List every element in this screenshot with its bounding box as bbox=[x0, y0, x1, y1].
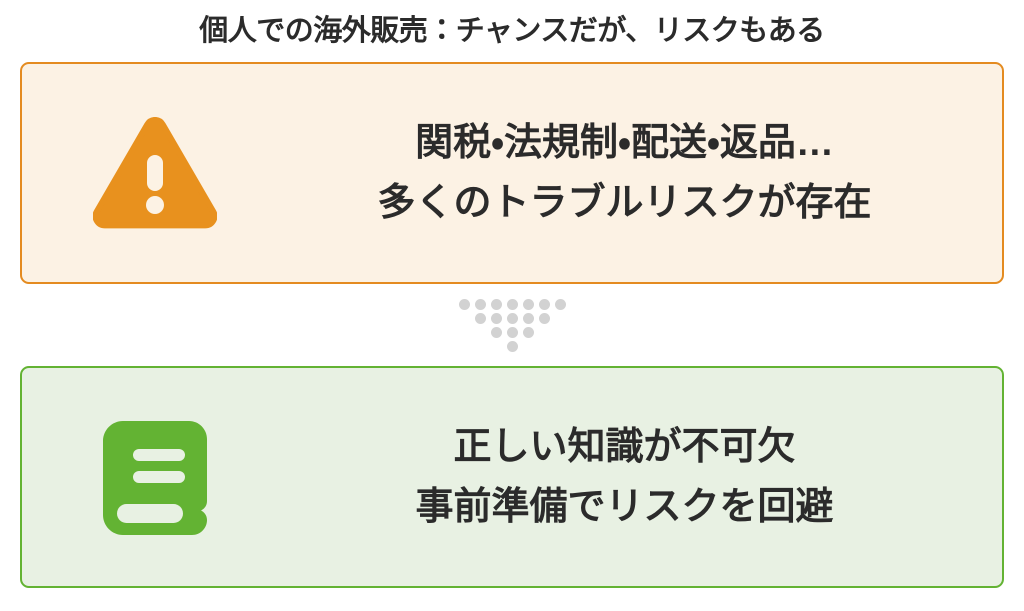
connector-dot bbox=[523, 299, 534, 310]
info-line-2: 事前準備でリスクを回避 bbox=[415, 477, 833, 537]
connector-dot bbox=[539, 313, 550, 324]
connector-dot bbox=[491, 299, 502, 310]
connector-dot bbox=[555, 299, 566, 310]
connector-dot bbox=[507, 313, 518, 324]
dot-row bbox=[504, 341, 520, 352]
connector-dot bbox=[507, 327, 518, 338]
book-icon bbox=[103, 419, 207, 535]
warning-card-icon-container bbox=[22, 117, 287, 229]
warning-line-1: 関税・法規制・配送・返品… bbox=[415, 113, 834, 173]
warning-line-2: 多くのトラブルリスクが存在 bbox=[377, 173, 871, 233]
connector-dot bbox=[507, 341, 518, 352]
connector-dot bbox=[523, 313, 534, 324]
connector-dot bbox=[523, 327, 534, 338]
dot-row bbox=[456, 299, 568, 310]
slide-root: 個人での海外販売：チャンスだが、リスクもある 関税・法規制・配送・返品… 多くの… bbox=[0, 0, 1024, 611]
connector-dot bbox=[475, 313, 486, 324]
dot-row bbox=[472, 313, 552, 324]
connector-dot bbox=[491, 313, 502, 324]
connector-dot bbox=[475, 299, 486, 310]
connector-dot bbox=[539, 299, 550, 310]
info-card-text: 正しい知識が不可欠 事前準備でリスクを回避 bbox=[287, 417, 1002, 537]
connector-dot bbox=[459, 299, 470, 310]
warning-card-text: 関税・法規制・配送・返品… 多くのトラブルリスクが存在 bbox=[287, 113, 1002, 233]
page-title: 個人での海外販売：チャンスだが、リスクもある bbox=[199, 0, 825, 49]
info-line-1: 正しい知識が不可欠 bbox=[453, 417, 795, 477]
dotted-down-arrow bbox=[20, 284, 1004, 366]
info-card: 正しい知識が不可欠 事前準備でリスクを回避 bbox=[20, 366, 1004, 588]
connector-dot bbox=[507, 299, 518, 310]
warning-card: 関税・法規制・配送・返品… 多くのトラブルリスクが存在 bbox=[20, 62, 1004, 284]
dot-row bbox=[488, 327, 536, 338]
info-card-icon-container bbox=[22, 419, 287, 535]
warning-triangle-icon bbox=[93, 117, 217, 229]
connector-dot bbox=[491, 327, 502, 338]
